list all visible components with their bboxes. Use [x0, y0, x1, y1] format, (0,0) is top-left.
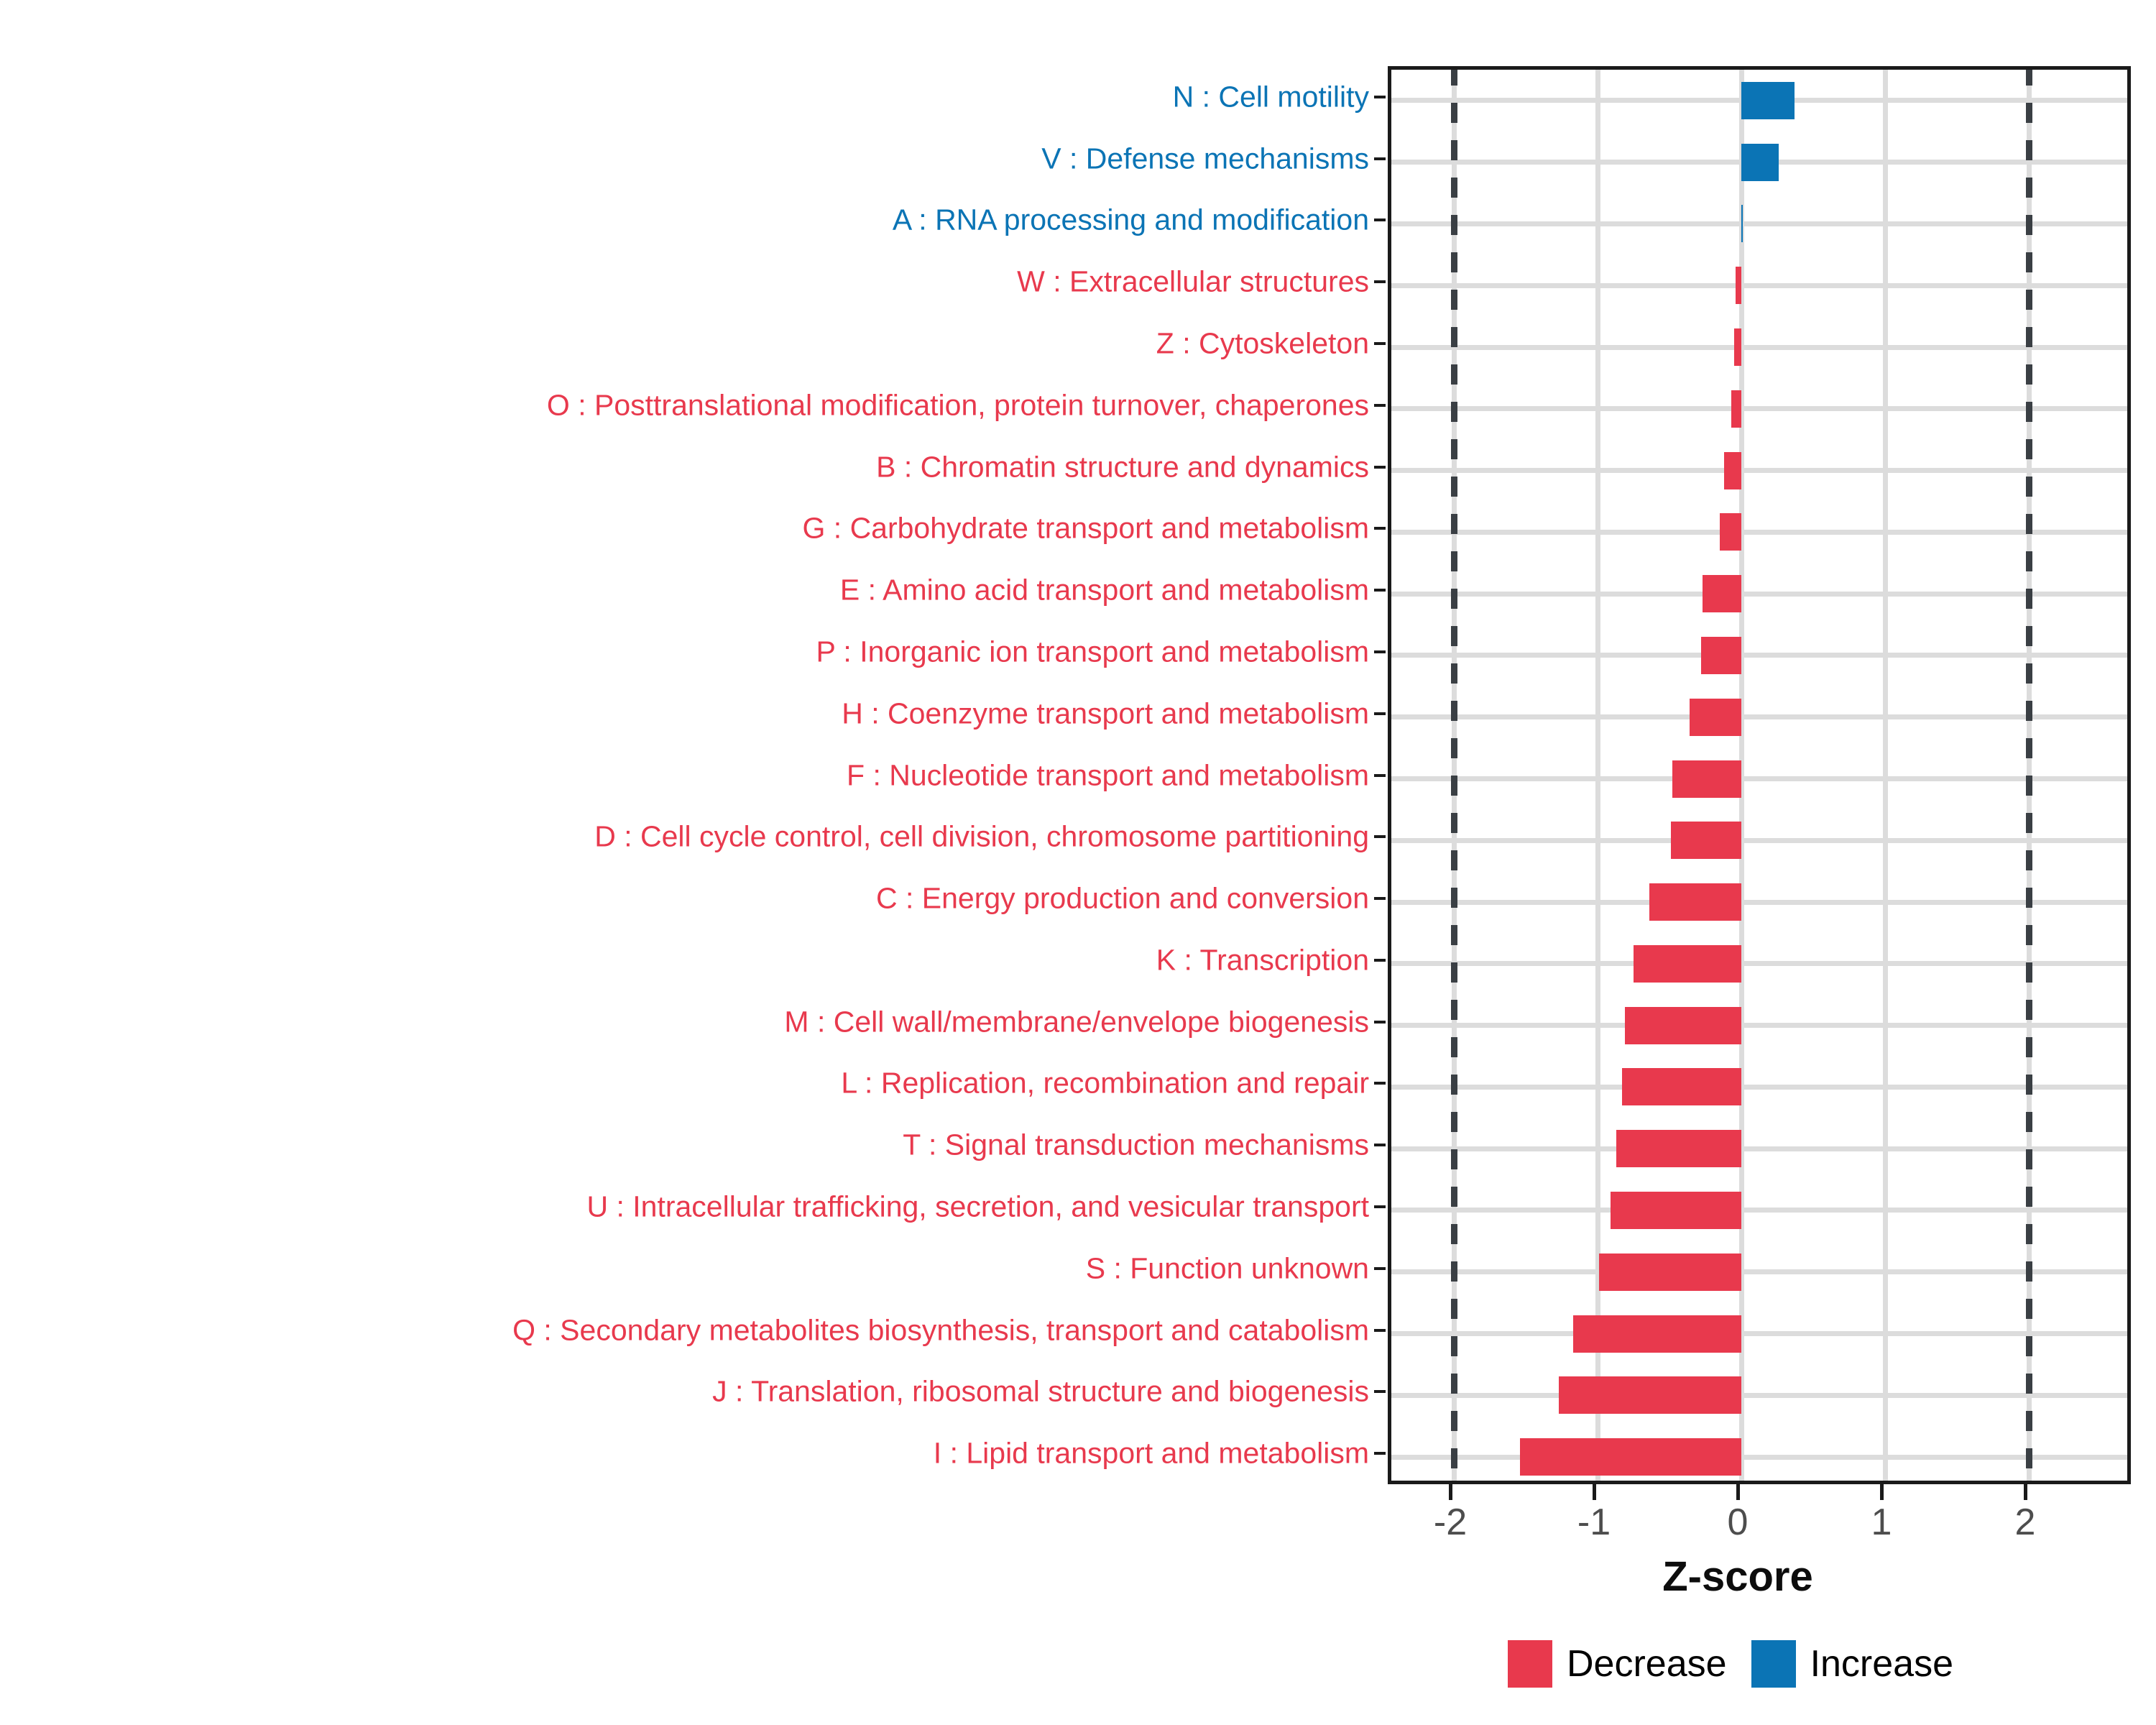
- x-axis-tick-label: 2: [2015, 1502, 2036, 1542]
- y-axis-label: O : Posttranslational modification, prot…: [547, 390, 1369, 420]
- y-axis-tick: [1374, 835, 1386, 838]
- y-axis-label: A : RNA processing and modification: [893, 206, 1369, 235]
- reference-line: [2026, 66, 2032, 1484]
- bar: [1741, 144, 1779, 181]
- y-gridline: [1391, 1393, 2127, 1398]
- legend-item: Increase: [1751, 1640, 1953, 1688]
- x-axis-tick-label: -2: [1434, 1502, 1467, 1542]
- legend: DecreaseIncrease: [1508, 1639, 1953, 1689]
- y-axis-tick: [1374, 280, 1386, 283]
- y-axis-tick: [1374, 1267, 1386, 1270]
- bar: [1634, 945, 1741, 983]
- y-axis-label: P : Inorganic ion transport and metaboli…: [816, 637, 1369, 666]
- y-axis-label: D : Cell cycle control, cell division, c…: [594, 822, 1369, 852]
- y-gridline: [1391, 345, 2127, 350]
- bar: [1573, 1315, 1741, 1353]
- bar: [1616, 1130, 1741, 1167]
- y-axis-category-labels: N : Cell motilityV : Defense mechanismsA…: [0, 66, 1369, 1484]
- y-axis-tick: [1374, 589, 1386, 592]
- y-axis-tick: [1374, 774, 1386, 777]
- y-axis-label: G : Carbohydrate transport and metabolis…: [803, 514, 1370, 543]
- bar: [1625, 1007, 1741, 1044]
- y-axis-label: L : Replication, recombination and repai…: [841, 1069, 1369, 1098]
- bar: [1520, 1438, 1741, 1476]
- y-axis-label: Z : Cytoskeleton: [1156, 329, 1369, 359]
- bar: [1671, 822, 1741, 859]
- y-gridline: [1391, 530, 2127, 535]
- y-axis-label: H : Coenzyme transport and metabolism: [842, 699, 1369, 728]
- x-axis-tick-label: 0: [1728, 1502, 1749, 1542]
- y-axis-label: I : Lipid transport and metabolism: [934, 1439, 1369, 1468]
- y-gridline: [1391, 961, 2127, 966]
- y-gridline: [1391, 776, 2127, 781]
- y-gridline: [1391, 1269, 2127, 1274]
- y-axis-tick: [1374, 527, 1386, 530]
- bar: [1690, 699, 1741, 736]
- y-axis-tick: [1374, 1144, 1386, 1146]
- y-axis-label: E : Amino acid transport and metabolism: [840, 576, 1369, 605]
- y-axis-label: T : Signal transduction mechanisms: [903, 1131, 1369, 1160]
- bar: [1622, 1068, 1741, 1105]
- y-gridline: [1391, 653, 2127, 658]
- cog-category-zscore-chart: N : Cell motilityV : Defense mechanismsA…: [0, 0, 2156, 1725]
- y-axis-tick: [1374, 1452, 1386, 1455]
- bar: [1611, 1192, 1741, 1229]
- y-axis-tick: [1374, 466, 1386, 469]
- y-axis-tick: [1374, 342, 1386, 345]
- y-gridline: [1391, 1455, 2127, 1460]
- bar: [1736, 267, 1741, 304]
- y-gridline: [1391, 838, 2127, 843]
- y-axis-label: K : Transcription: [1156, 945, 1369, 975]
- legend-swatch: [1508, 1640, 1552, 1688]
- x-axis-tick: [1449, 1484, 1452, 1500]
- y-gridline: [1391, 1023, 2127, 1028]
- y-axis-label: Q : Secondary metabolites biosynthesis, …: [512, 1315, 1369, 1345]
- bar: [1701, 637, 1741, 674]
- y-axis-label: V : Defense mechanisms: [1041, 144, 1369, 173]
- y-gridline: [1391, 1146, 2127, 1151]
- bar: [1720, 513, 1741, 551]
- x-axis-tick: [2024, 1484, 2027, 1500]
- y-axis-tick: [1374, 157, 1386, 160]
- x-axis-tick: [1736, 1484, 1740, 1500]
- legend-swatch: [1751, 1640, 1796, 1688]
- y-gridline: [1391, 1085, 2127, 1090]
- y-axis-label: S : Function unknown: [1086, 1253, 1369, 1283]
- y-axis-label: F : Nucleotide transport and metabolism: [847, 760, 1369, 790]
- y-gridline: [1391, 714, 2127, 719]
- legend-label: Decrease: [1567, 1644, 1727, 1684]
- y-gridline: [1391, 283, 2127, 288]
- bar: [1734, 328, 1741, 366]
- y-axis-tick: [1374, 959, 1386, 962]
- legend-item: Decrease: [1508, 1640, 1727, 1688]
- reference-line: [1451, 66, 1457, 1484]
- bar: [1703, 575, 1741, 612]
- y-gridline: [1391, 900, 2127, 905]
- bar: [1599, 1253, 1741, 1291]
- y-axis-label: C : Energy production and conversion: [876, 884, 1369, 914]
- y-axis-label: J : Translation, ribosomal structure and…: [712, 1377, 1369, 1407]
- y-axis-label: B : Chromatin structure and dynamics: [876, 452, 1369, 482]
- x-axis-title: Z-score: [1662, 1552, 1813, 1601]
- y-axis-label: W : Extracellular structures: [1017, 267, 1369, 297]
- x-axis-tick: [1880, 1484, 1884, 1500]
- y-axis-tick: [1374, 1021, 1386, 1023]
- y-axis-tick: [1374, 897, 1386, 900]
- bar: [1649, 883, 1741, 921]
- y-axis-tick: [1374, 712, 1386, 715]
- y-axis-label: U : Intracellular trafficking, secretion…: [586, 1192, 1369, 1221]
- plot-panel: [1388, 66, 2131, 1484]
- x-axis-tick: [1593, 1484, 1596, 1500]
- y-axis-tick: [1374, 96, 1386, 98]
- y-gridline: [1391, 592, 2127, 597]
- y-axis-tick: [1374, 1390, 1386, 1393]
- bar: [1741, 82, 1795, 119]
- bar: [1672, 760, 1741, 798]
- y-axis-tick: [1374, 1082, 1386, 1085]
- bar: [1724, 452, 1741, 489]
- x-axis-tick-label: -1: [1577, 1502, 1611, 1542]
- y-axis-tick: [1374, 404, 1386, 407]
- bar: [1741, 205, 1743, 242]
- y-gridline: [1391, 221, 2127, 226]
- y-axis-tick: [1374, 218, 1386, 221]
- bar: [1559, 1376, 1741, 1414]
- y-gridline: [1391, 406, 2127, 411]
- y-gridline: [1391, 1331, 2127, 1336]
- y-gridline: [1391, 468, 2127, 473]
- y-gridline: [1391, 1207, 2127, 1213]
- y-axis-tick: [1374, 650, 1386, 653]
- legend-label: Increase: [1810, 1644, 1953, 1684]
- y-axis-label: M : Cell wall/membrane/envelope biogenes…: [784, 1007, 1369, 1036]
- y-axis-label: N : Cell motility: [1173, 82, 1369, 111]
- y-axis-tick: [1374, 1329, 1386, 1332]
- bar: [1731, 390, 1741, 428]
- x-axis-tick-label: 1: [1871, 1502, 1892, 1542]
- y-axis-tick: [1374, 1205, 1386, 1208]
